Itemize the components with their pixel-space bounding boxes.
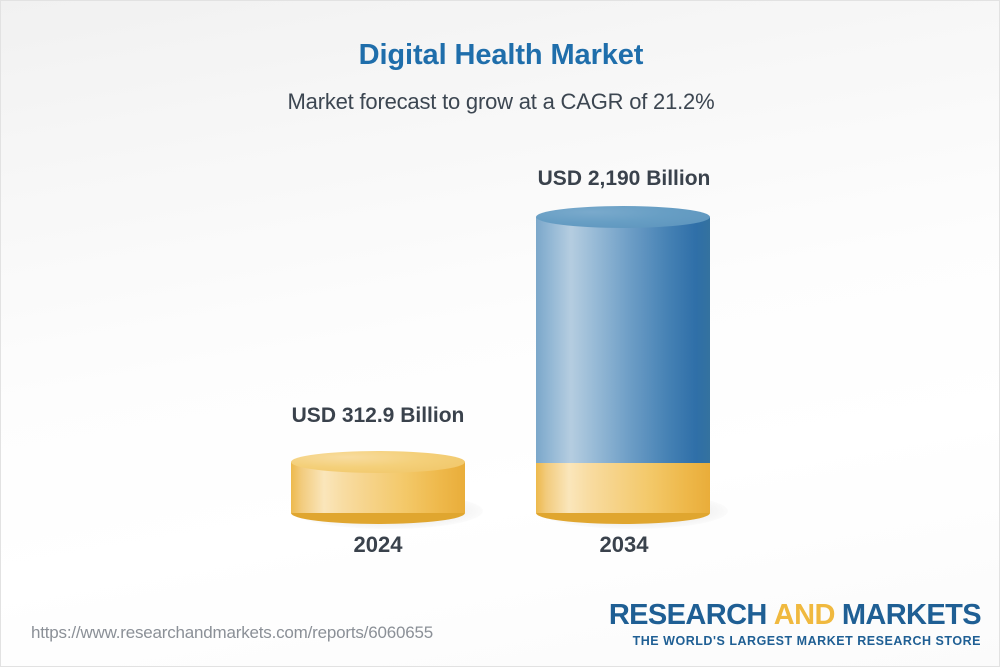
- cylinder-2034[interactable]: [536, 206, 710, 513]
- plot-area: USD 312.9 Billion 2024 USD 2,190 Billion: [1, 1, 1000, 601]
- logo-wordmark: RESEARCHANDMARKETS: [609, 601, 981, 631]
- brand-logo[interactable]: RESEARCHANDMARKETS THE WORLD'S LARGEST M…: [609, 601, 981, 648]
- logo-tagline: THE WORLD'S LARGEST MARKET RESEARCH STOR…: [609, 634, 981, 648]
- logo-word-and: AND: [774, 599, 835, 631]
- source-url[interactable]: https://www.researchandmarkets.com/repor…: [31, 623, 433, 643]
- value-label-2024: USD 312.9 Billion: [228, 404, 528, 428]
- value-label-2034: USD 2,190 Billion: [474, 167, 774, 191]
- logo-word-research: RESEARCH: [609, 599, 767, 631]
- cylinder-2024[interactable]: [291, 451, 465, 513]
- chart-canvas: Digital Health Market Market forecast to…: [0, 0, 1000, 667]
- logo-word-markets: MARKETS: [842, 599, 981, 631]
- category-label-2034: 2034: [474, 532, 774, 558]
- cylinder-body-2034-yellow: [536, 463, 710, 513]
- cylinder-cap-2024: [291, 451, 465, 473]
- cylinder-segment-2024-yellow: [291, 462, 465, 513]
- cylinder-cap-2034: [536, 206, 710, 228]
- cylinder-segment-2034-yellow: [536, 463, 710, 513]
- cylinder-body-2034-blue: [536, 217, 710, 463]
- cylinder-segment-2034-blue: [536, 217, 710, 463]
